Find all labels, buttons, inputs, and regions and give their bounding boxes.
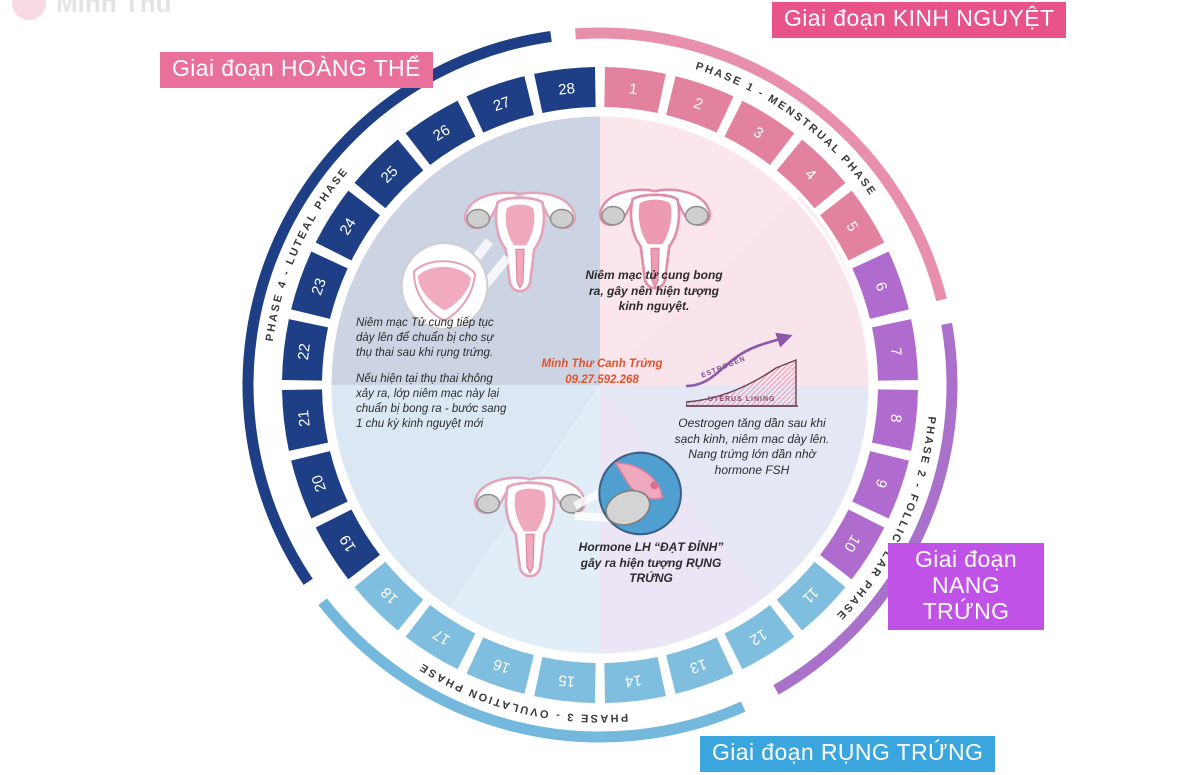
day-number-22: 22 — [295, 342, 314, 360]
infographic-canvas: Minh Thu 12345678910 — [0, 0, 1200, 775]
description-follicular: Oestrogen tăng dần sau khi sạch kinh, ni… — [672, 416, 832, 478]
day-number-21: 21 — [295, 409, 314, 427]
label-follicular-phase[interactable]: Giai đoạn NANG TRỨNG — [888, 543, 1044, 630]
day-number-28: 28 — [557, 80, 575, 99]
uterus-lining-caption: UTERUS LINING — [708, 396, 775, 403]
description-luteal-p2: Nếu hiện tại thụ thai không xảy ra, lớp … — [356, 372, 508, 432]
label-luteal-phase[interactable]: Giai đoạn HOÀNG THỂ — [160, 52, 433, 88]
description-ovulation: Hormone LH “ĐẠT ĐỈNH” gây ra hiện tượng … — [570, 540, 732, 587]
description-menstrual: Niêm mạc tử cung bong ra, gây nên hiện t… — [580, 268, 728, 315]
label-ovulation-phase[interactable]: Giai đoạn RỤNG TRỨNG — [700, 736, 995, 772]
estrogen-mini-chart — [686, 306, 810, 410]
day-number-14: 14 — [624, 671, 642, 690]
description-luteal: Niêm mạc Tử cung tiếp tục dày lên để chu… — [356, 316, 508, 443]
brand-contact: Minh Thư Canh Trứng 09.27.592.268 — [522, 357, 682, 388]
description-luteal-p1: Niêm mạc Tử cung tiếp tục dày lên để chu… — [356, 316, 508, 361]
brand-name: Minh Thư Canh Trứng — [522, 357, 682, 373]
label-menstrual-phase[interactable]: Giai đoạn KINH NGUYỆT — [772, 2, 1066, 38]
day-number-15: 15 — [557, 671, 575, 690]
brand-phone: 09.27.592.268 — [522, 373, 682, 389]
